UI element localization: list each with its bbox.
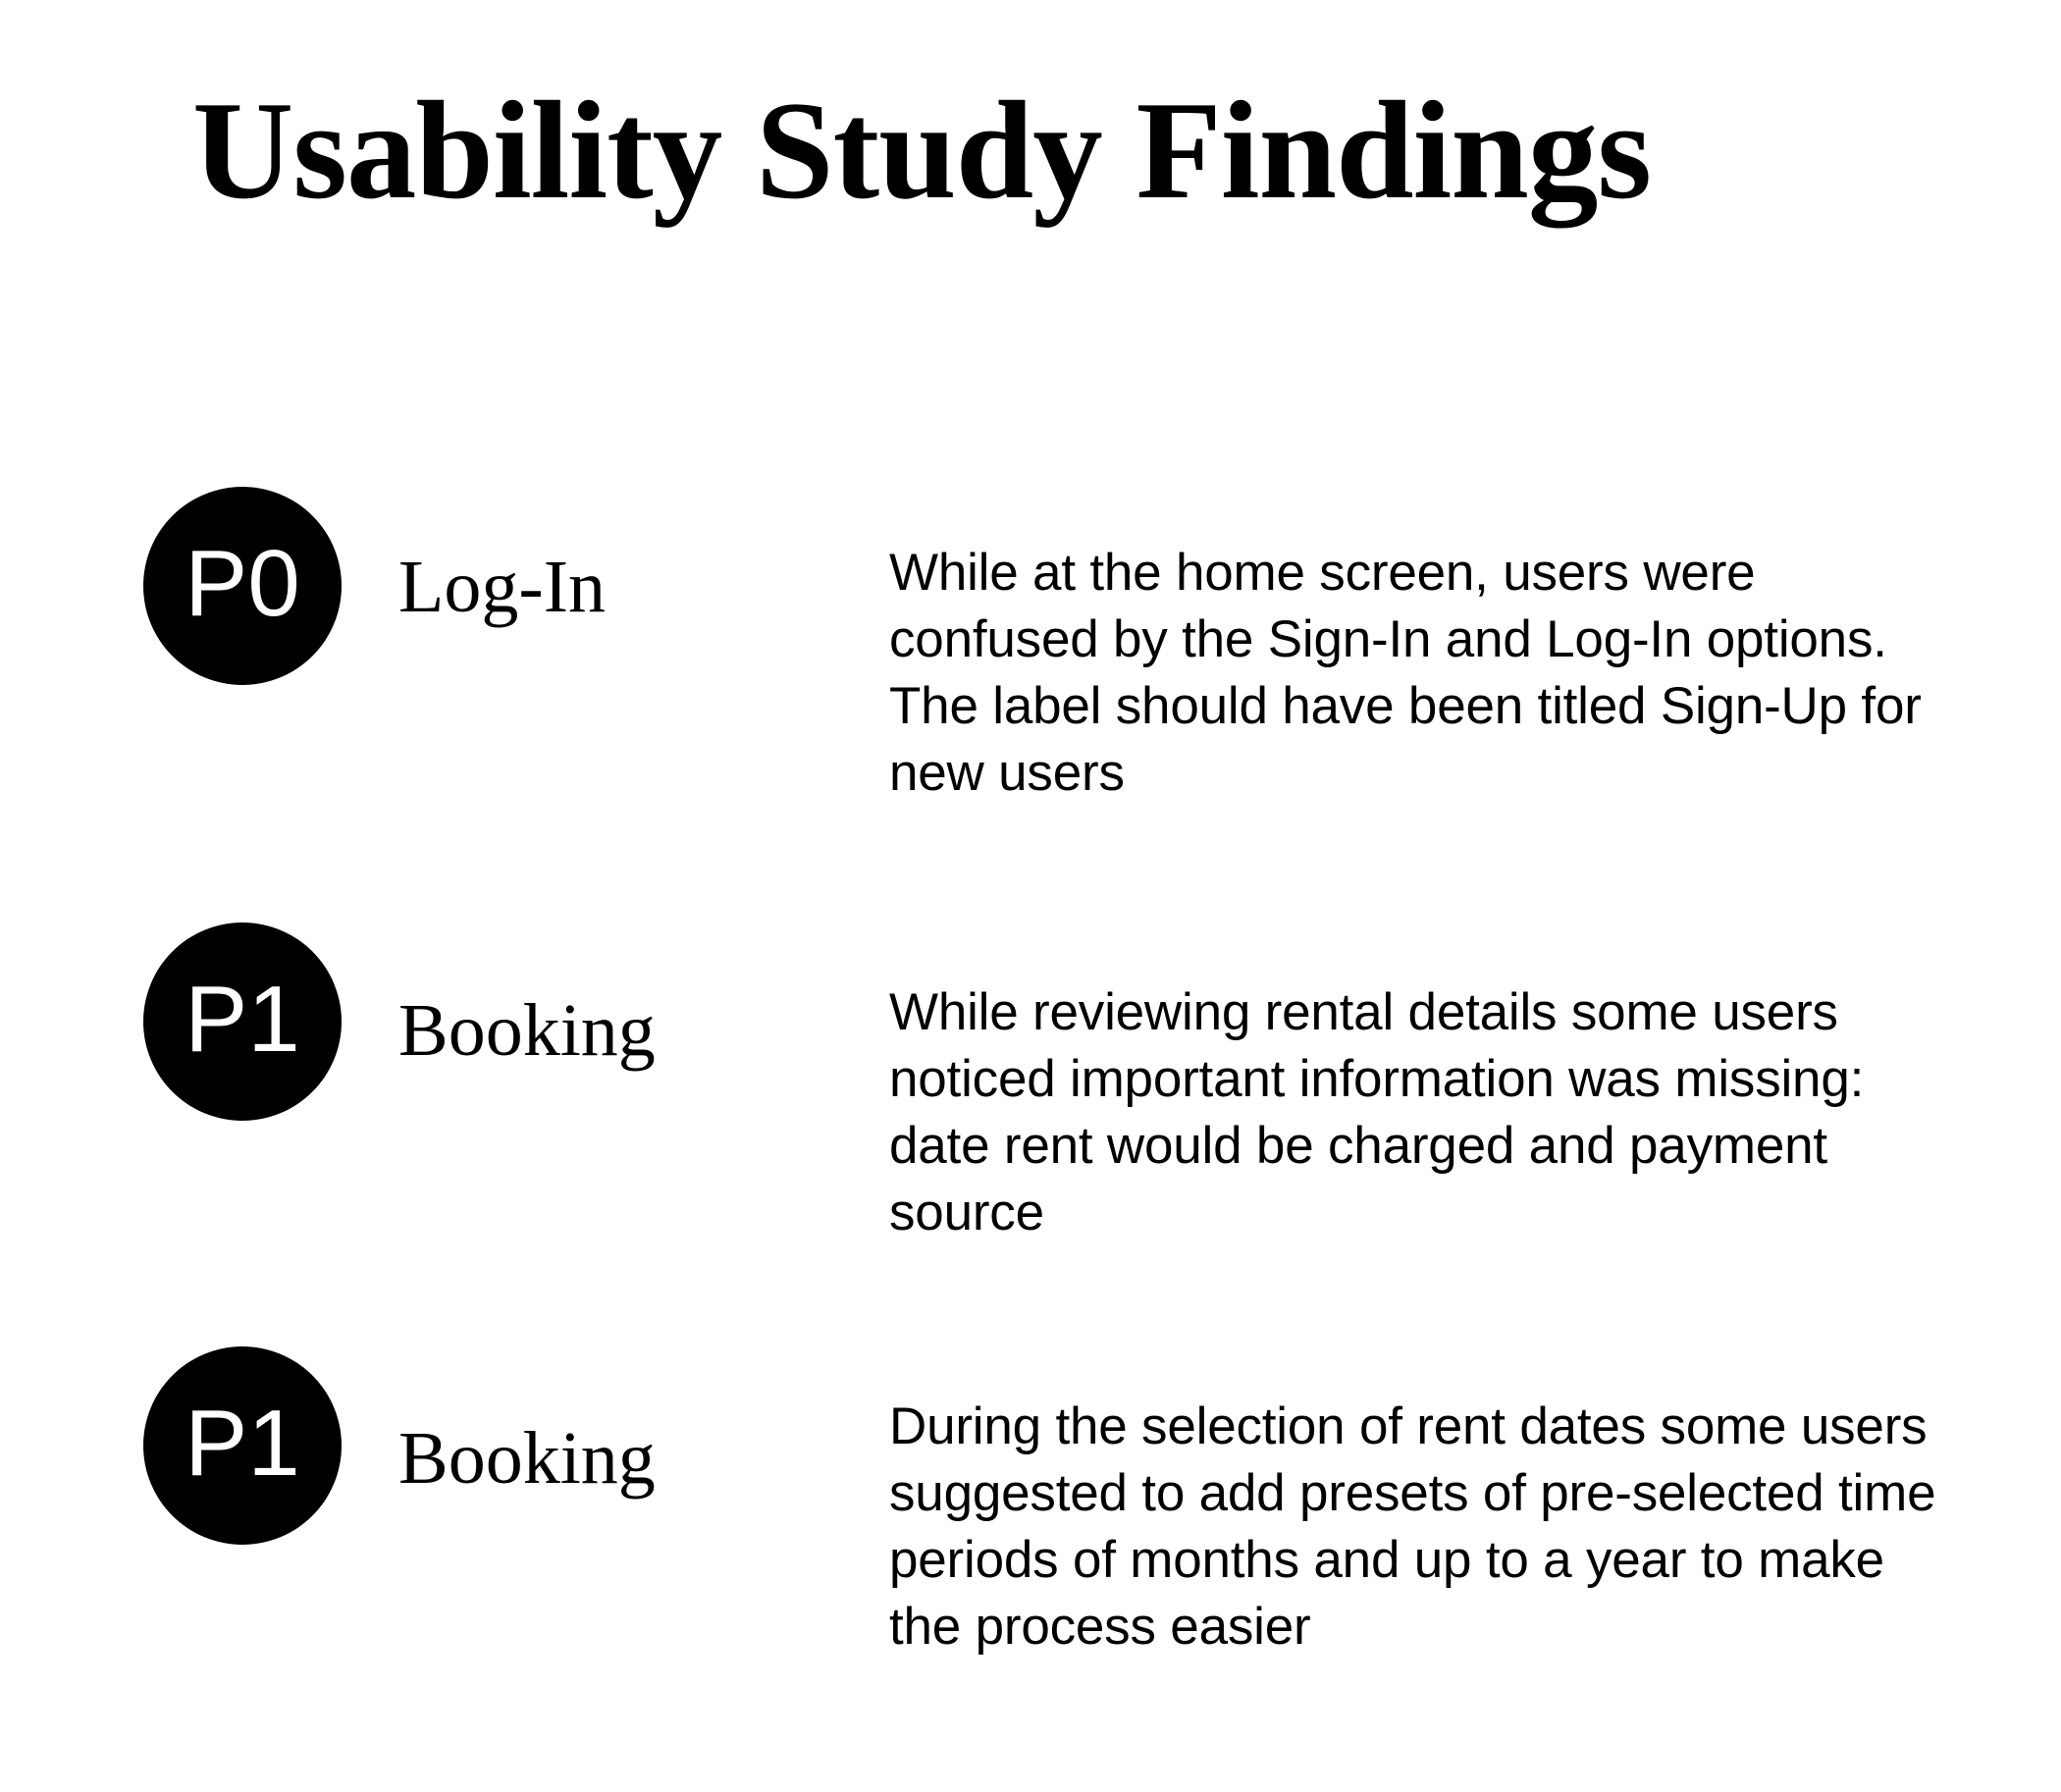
finding-description: While at the home screen, users were con… [889,540,1963,807]
priority-badge: P1 [143,922,342,1121]
finding-category-label: Booking [398,993,656,1068]
finding-description: During the selection of rent dates some … [889,1394,1963,1660]
priority-badge: P0 [143,487,342,685]
page-title: Usability Study Findings [192,80,1651,221]
priority-badge-label: P1 [185,973,299,1067]
finding-category-label: Booking [398,1421,656,1496]
priority-badge-label: P1 [185,1397,299,1491]
finding-category-label: Log-In [398,550,606,624]
priority-badge: P1 [143,1346,342,1545]
finding-description: While reviewing rental details some user… [889,979,1963,1246]
priority-badge-label: P0 [185,537,299,631]
